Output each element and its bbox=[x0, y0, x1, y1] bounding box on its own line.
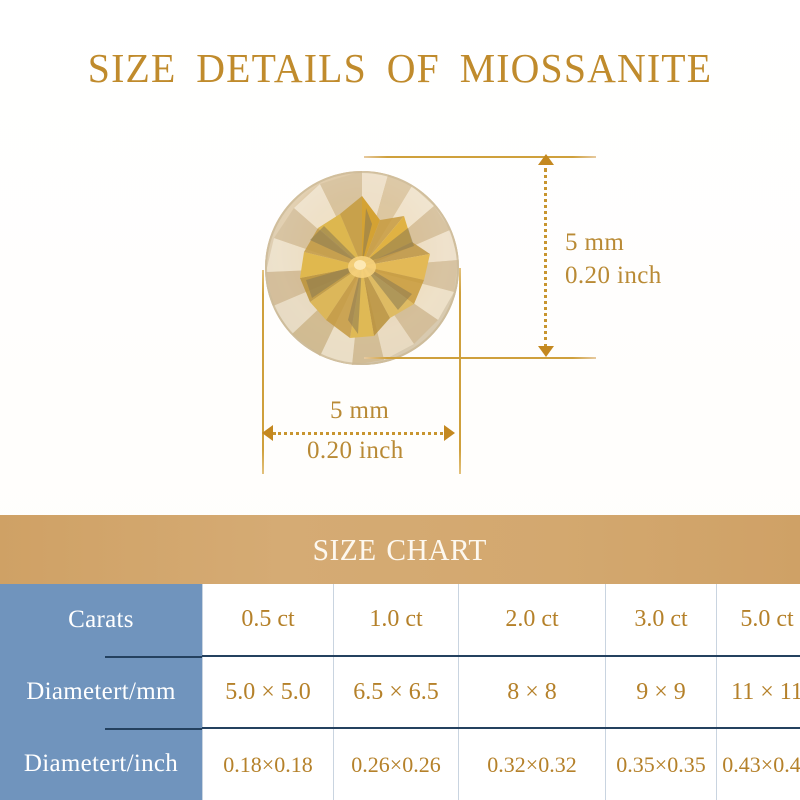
row-label-diameter-inch: Diametert/inch bbox=[0, 728, 203, 800]
extension-line-top bbox=[364, 156, 596, 158]
size-chart-banner: SIZE CHART bbox=[0, 515, 800, 584]
arrow-right-icon bbox=[444, 425, 455, 441]
size-chart-page: SIZE DETAILS OF MIOSSANITE bbox=[0, 0, 800, 800]
cell-mm-3: 9 × 9 bbox=[606, 656, 717, 728]
size-chart-banner-label: SIZE CHART bbox=[313, 532, 487, 568]
cell-carats-0: 0.5 ct bbox=[203, 584, 334, 656]
cell-inch-0: 0.18×0.18 bbox=[203, 728, 334, 800]
gem-dimension-diagram: 5 mm 0.20 inch 5 mm 0.20 inch bbox=[0, 0, 800, 510]
moissanite-gem-icon bbox=[262, 168, 462, 368]
table-row: Carats 0.5 ct 1.0 ct 2.0 ct 3.0 ct 5.0 c… bbox=[0, 584, 800, 656]
extension-line-right bbox=[459, 268, 461, 474]
horizontal-dimension-mm: 5 mm bbox=[330, 397, 389, 425]
arrow-down-icon bbox=[538, 346, 554, 357]
row-label-carats: Carats bbox=[0, 584, 203, 656]
horizontal-dimension-line bbox=[273, 432, 449, 435]
extension-line-bottom bbox=[364, 357, 596, 359]
cell-mm-4: 11 × 11 bbox=[717, 656, 800, 728]
cell-inch-2: 0.32×0.32 bbox=[459, 728, 606, 800]
cell-carats-1: 1.0 ct bbox=[334, 584, 459, 656]
size-chart-table: Carats 0.5 ct 1.0 ct 2.0 ct 3.0 ct 5.0 c… bbox=[0, 584, 800, 800]
table-row: Diametert/mm 5.0 × 5.0 6.5 × 6.5 8 × 8 9… bbox=[0, 656, 800, 728]
cell-carats-4: 5.0 ct bbox=[717, 584, 800, 656]
horizontal-dimension-inch: 0.20 inch bbox=[307, 437, 404, 465]
vertical-dimension-line bbox=[544, 168, 547, 348]
vertical-dimension-mm: 5 mm bbox=[565, 229, 624, 257]
cell-inch-4: 0.43×0.43 bbox=[717, 728, 800, 800]
gemstone-image bbox=[262, 168, 462, 368]
cell-mm-1: 6.5 × 6.5 bbox=[334, 656, 459, 728]
cell-carats-2: 2.0 ct bbox=[459, 584, 606, 656]
cell-inch-1: 0.26×0.26 bbox=[334, 728, 459, 800]
arrow-up-icon bbox=[538, 154, 554, 165]
cell-carats-3: 3.0 ct bbox=[606, 584, 717, 656]
cell-inch-3: 0.35×0.35 bbox=[606, 728, 717, 800]
cell-mm-0: 5.0 × 5.0 bbox=[203, 656, 334, 728]
row-label-diameter-mm: Diametert/mm bbox=[0, 656, 203, 728]
arrow-left-icon bbox=[262, 425, 273, 441]
cell-mm-2: 8 × 8 bbox=[459, 656, 606, 728]
extension-line-left bbox=[262, 270, 264, 474]
vertical-dimension-inch: 0.20 inch bbox=[565, 262, 662, 290]
table-row: Diametert/inch 0.18×0.18 0.26×0.26 0.32×… bbox=[0, 728, 800, 800]
